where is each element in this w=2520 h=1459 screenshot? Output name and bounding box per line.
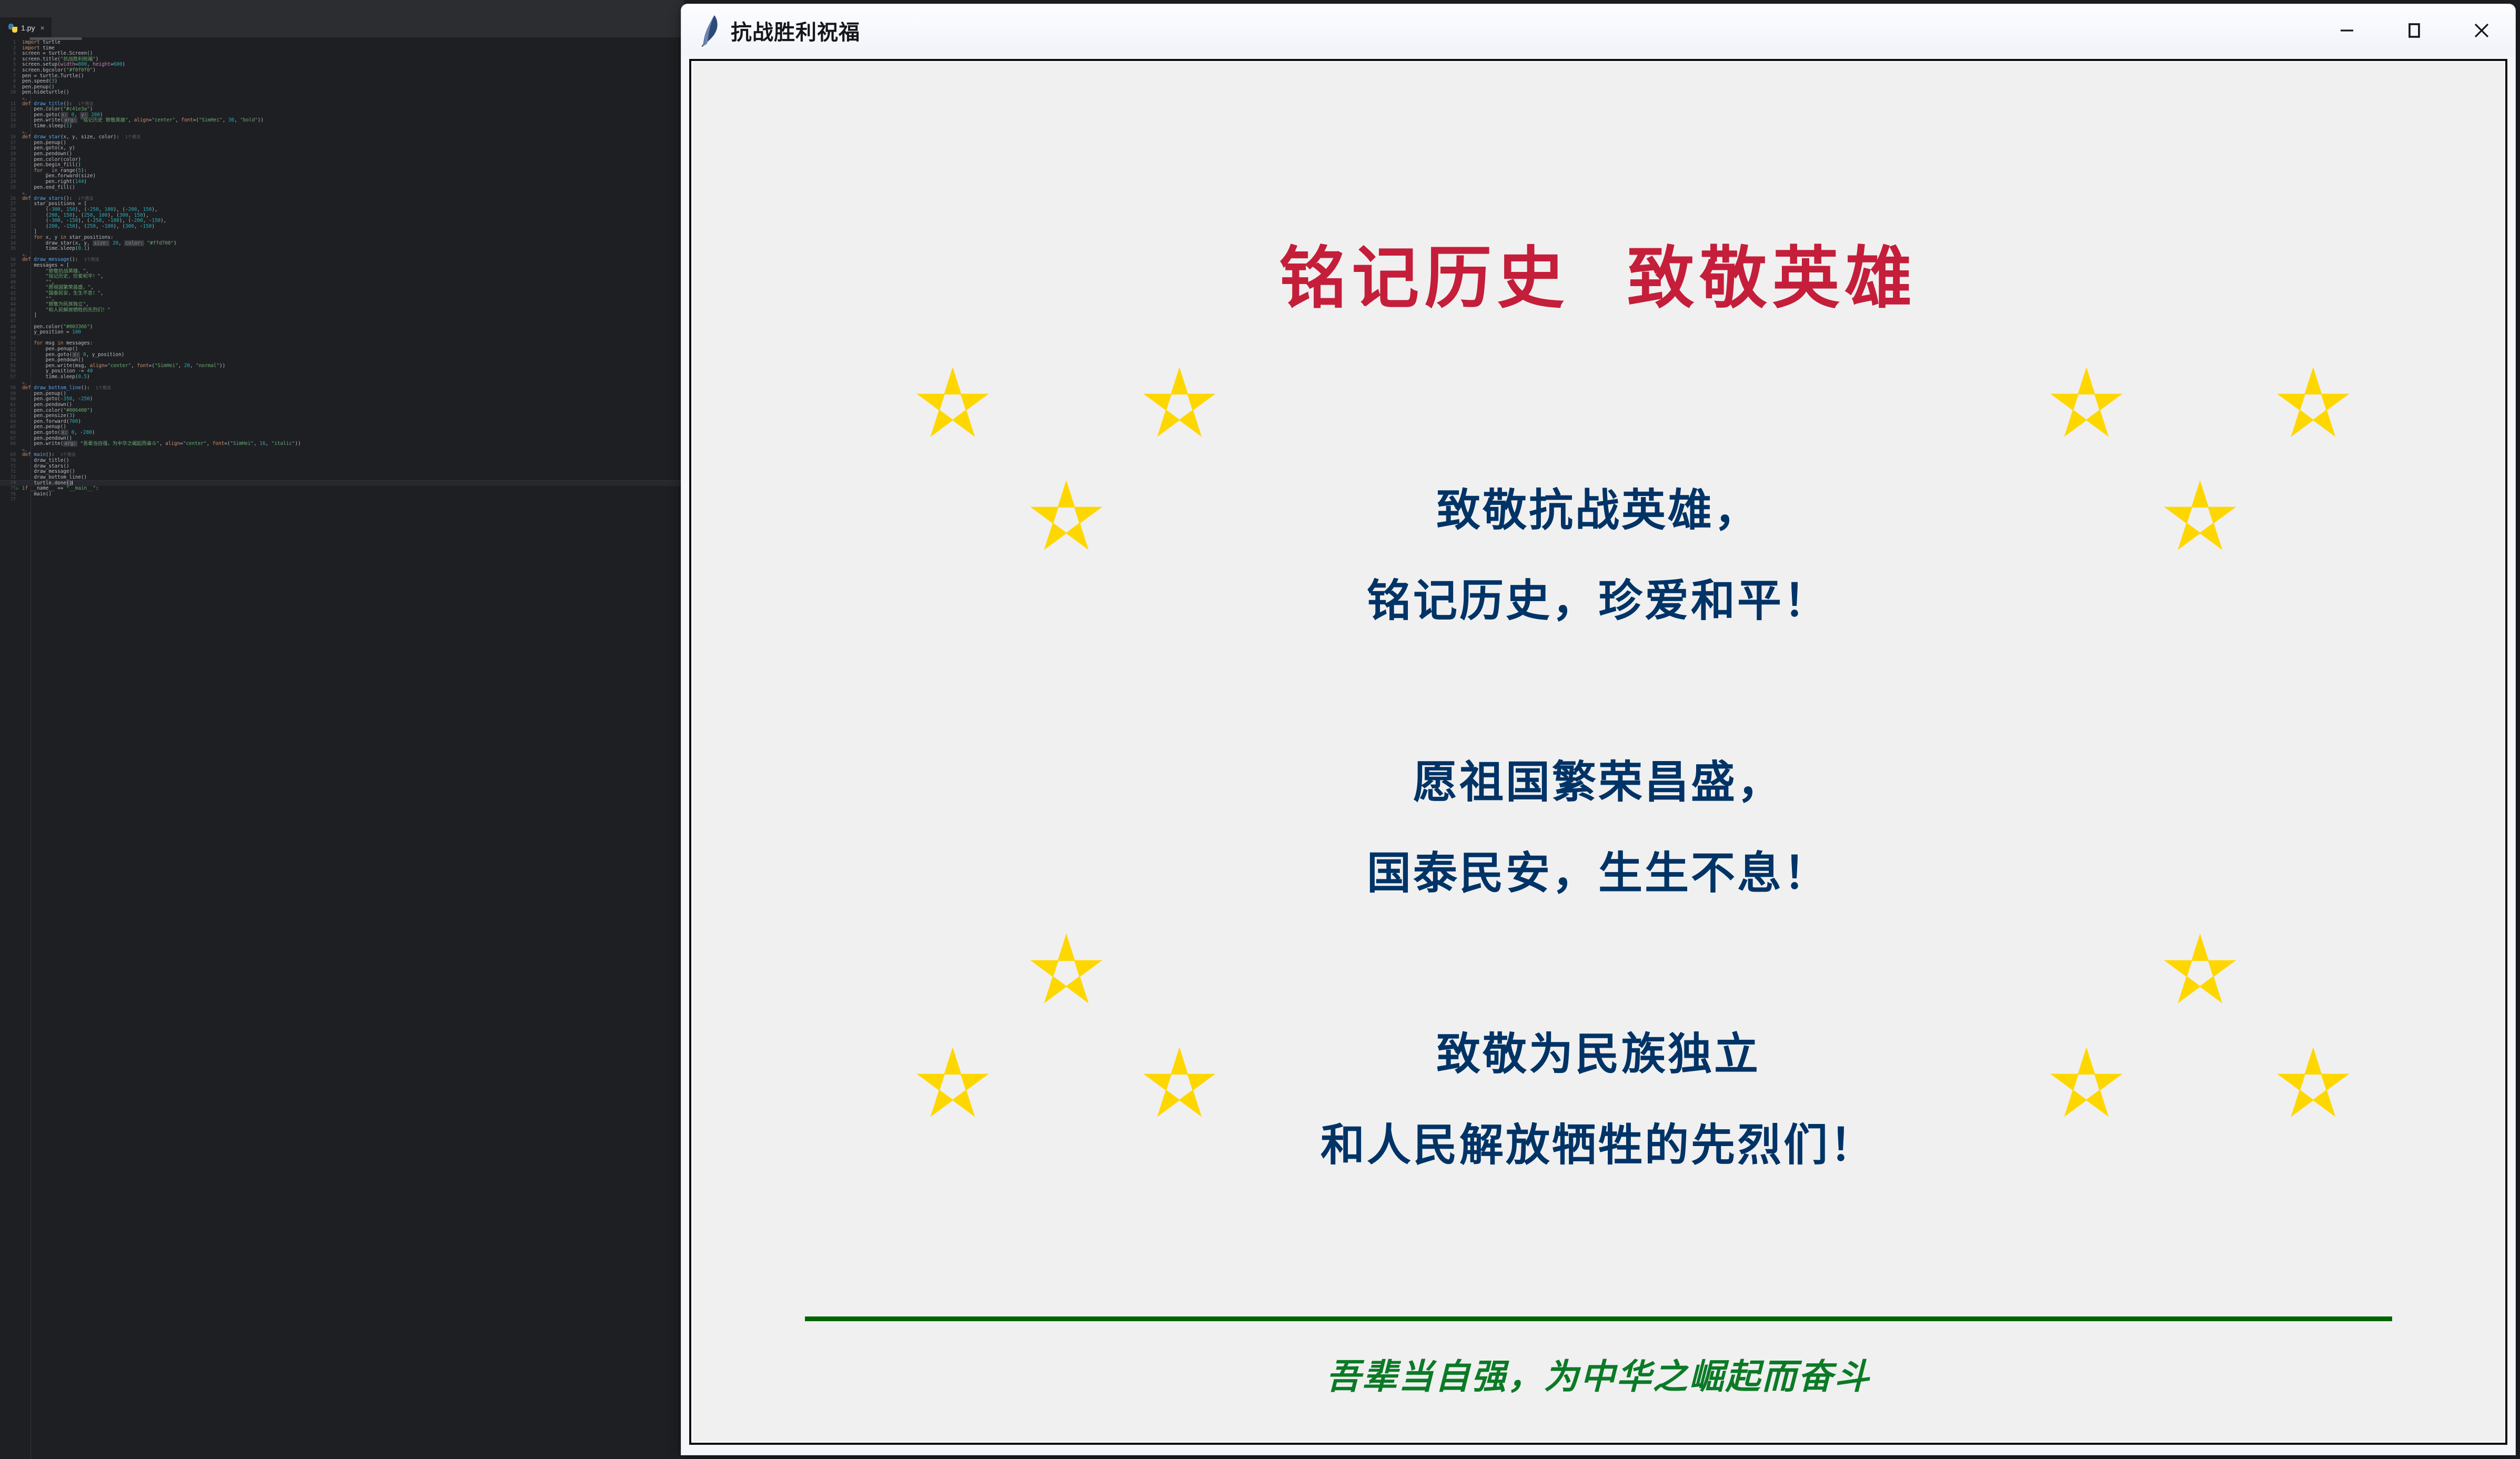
code-line-text: main() bbox=[22, 492, 52, 498]
code-line[interactable]: 14 pen.write(arg: "铭记历史 致敬英雄", align="ce… bbox=[0, 118, 684, 124]
code-line-text: draw_title() bbox=[22, 458, 69, 464]
code-line[interactable]: 57 time.sleep(0.5) bbox=[0, 374, 684, 380]
line-number: 66 bbox=[0, 430, 16, 436]
code-line[interactable]: 15 time.sleep(1) bbox=[0, 124, 684, 129]
code-line[interactable]: 66 pen.goto(x: 0, -280) bbox=[0, 430, 684, 436]
canvas-message-line: 致敬为民族独立 bbox=[691, 1019, 2505, 1082]
code-line[interactable]: 24 pen.right(144) bbox=[0, 179, 684, 185]
line-number: 67 bbox=[0, 436, 16, 442]
line-number: 12 bbox=[0, 107, 16, 113]
line-number: 28 bbox=[0, 207, 16, 213]
line-number: 52 bbox=[0, 347, 16, 352]
code-editor[interactable]: 1import turtle2import time3screen = turt… bbox=[0, 40, 684, 1459]
code-line[interactable]: 68 pen.write(arg: "吾辈当自强，为中华之崛起而奋斗", ali… bbox=[0, 441, 684, 447]
code-line[interactable]: 71 draw_stars() bbox=[0, 464, 684, 470]
line-number: 39 bbox=[0, 274, 16, 280]
line-number: 76 bbox=[0, 492, 16, 498]
window-title-text: 抗战胜利祝福 bbox=[731, 15, 860, 46]
line-number: 58 bbox=[0, 386, 16, 391]
ide-top-strip bbox=[0, 0, 684, 17]
line-number: 18 bbox=[0, 146, 16, 151]
code-line[interactable]: 56 y_position -= 40 bbox=[0, 369, 684, 374]
line-number: 41 bbox=[0, 285, 16, 291]
code-line-text: draw_bottom_line() bbox=[22, 475, 87, 481]
canvas-title-text: 铭记历史 致敬英雄 bbox=[691, 224, 2505, 321]
canvas-message-line: 愿祖国繁荣昌盛， bbox=[691, 747, 2505, 810]
editor-tab-label: 1.py bbox=[21, 24, 35, 32]
code-line[interactable]: 40 "", bbox=[0, 280, 684, 286]
code-line[interactable]: 39 "铭记历史，珍爱和平！", bbox=[0, 274, 684, 280]
code-line[interactable]: 70 draw_title() bbox=[0, 458, 684, 464]
close-icon[interactable]: × bbox=[38, 24, 46, 32]
editor-tab-bar: 1.py × bbox=[0, 17, 684, 37]
line-number: 23 bbox=[0, 174, 16, 179]
code-line[interactable]: 55 pen.write(msg, align="center", font=(… bbox=[0, 363, 684, 369]
line-number: 59 bbox=[0, 391, 16, 397]
line-number: 21 bbox=[0, 163, 16, 168]
line-number: 20 bbox=[0, 157, 16, 163]
line-number: 65 bbox=[0, 424, 16, 430]
code-line[interactable]: 20 pen.color(color) bbox=[0, 157, 684, 163]
code-line[interactable]: 3screen = turtle.Screen() bbox=[0, 51, 684, 57]
line-number: 63 bbox=[0, 413, 16, 419]
code-line[interactable]: 49 y_position = 100 bbox=[0, 330, 684, 336]
line-number: 26 bbox=[0, 196, 16, 202]
line-number: 25 bbox=[0, 185, 16, 191]
code-line[interactable]: 11def draw_title(): 1个用法 bbox=[0, 102, 684, 107]
code-line[interactable]: 62 pen.color("#006400") bbox=[0, 408, 684, 414]
line-number: 45 bbox=[0, 308, 16, 313]
line-number: 3 bbox=[0, 51, 16, 57]
line-number: 7 bbox=[0, 74, 16, 79]
code-line[interactable]: 46 ] bbox=[0, 313, 684, 319]
code-line[interactable]: 36def draw_message(): 1个用法 bbox=[0, 257, 684, 263]
star-icon bbox=[1030, 933, 1103, 1006]
code-line-text: (200, -150), (250, -100), (300, -150) bbox=[22, 224, 155, 230]
line-number: 42 bbox=[0, 291, 16, 297]
line-number: 69 bbox=[0, 452, 16, 458]
line-number: 49 bbox=[0, 330, 16, 336]
code-line[interactable]: 34 draw_star(x, y, size: 20, color: "#ff… bbox=[0, 241, 684, 247]
line-number: 27 bbox=[0, 201, 16, 207]
code-line[interactable]: 7pen = turtle.Turtle() bbox=[0, 74, 684, 79]
code-line-text: time.sleep(1) bbox=[22, 124, 72, 129]
code-line[interactable]: 43 "", bbox=[0, 297, 684, 302]
code-line-text: pen.hideturtle() bbox=[22, 90, 69, 96]
code-line[interactable]: 16def draw_star(x, y, size, color): 1个用法 bbox=[0, 135, 684, 140]
star-icon bbox=[2276, 366, 2350, 440]
star-icon bbox=[2050, 366, 2123, 440]
line-number: 74 bbox=[0, 480, 16, 486]
line-number: 4 bbox=[0, 57, 16, 63]
code-line-text: time.sleep(0.5) bbox=[22, 374, 90, 380]
code-line[interactable]: 6screen.bgcolor("#f0f0f0") bbox=[0, 68, 684, 74]
line-number: 6 bbox=[0, 68, 16, 74]
line-number: 37 bbox=[0, 263, 16, 269]
line-number: 40 bbox=[0, 280, 16, 286]
code-line[interactable]: 42 "国泰民安，生生不息！", bbox=[0, 291, 684, 297]
code-line-text: ] bbox=[22, 313, 37, 319]
window-controls bbox=[2313, 4, 2515, 57]
canvas-message-line: 国泰民安，生生不息！ bbox=[691, 838, 2505, 901]
line-number: 14 bbox=[0, 118, 16, 124]
window-title-bar[interactable]: 抗战胜利祝福 bbox=[681, 4, 2515, 57]
line-number: 11 bbox=[0, 102, 16, 107]
run-gutter-icon[interactable]: ▷ bbox=[16, 486, 19, 492]
python-file-icon bbox=[8, 24, 17, 33]
close-button[interactable] bbox=[2448, 4, 2515, 57]
line-number: 68 bbox=[0, 441, 16, 447]
code-line-text: pen.penup() bbox=[22, 347, 78, 352]
line-number: 48 bbox=[0, 325, 16, 330]
code-line-text: for x, y in star_positions: bbox=[22, 235, 114, 241]
line-number: 56 bbox=[0, 369, 16, 374]
code-line[interactable]: 17 pen.penup() bbox=[0, 140, 684, 146]
maximize-button[interactable] bbox=[2381, 4, 2448, 57]
code-line[interactable]: 63 pen.pensize(3) bbox=[0, 413, 684, 419]
canvas-bottom-line bbox=[805, 1316, 2392, 1321]
code-line[interactable]: 47 bbox=[0, 319, 684, 325]
code-line[interactable]: 45 "和人民解放牺牲的先烈们！" bbox=[0, 308, 684, 313]
code-line-text: pen.goto(x: 0, -280) bbox=[22, 430, 95, 436]
code-line[interactable]: 35 time.sleep(0.1) bbox=[0, 246, 684, 252]
code-line[interactable]: 52 pen.penup() bbox=[0, 347, 684, 352]
line-number: 19 bbox=[0, 151, 16, 157]
line-number: 8 bbox=[0, 79, 16, 85]
code-line[interactable]: 8pen.speed(3) bbox=[0, 79, 684, 85]
line-number: 57 bbox=[0, 374, 16, 380]
code-line[interactable]: 76 main() bbox=[0, 492, 684, 498]
canvas-message-line: 铭记历史，珍爱和平！ bbox=[691, 565, 2505, 629]
line-number: 1 bbox=[0, 40, 16, 46]
code-line[interactable]: 31 (200, -150), (250, -100), (300, -150) bbox=[0, 224, 684, 230]
code-line[interactable]: 21 pen.begin_fill() bbox=[0, 163, 684, 168]
star-icon bbox=[1143, 366, 1216, 440]
line-number: 15 bbox=[0, 124, 16, 129]
tk-feather-icon bbox=[697, 14, 721, 47]
line-number: 53 bbox=[0, 352, 16, 358]
code-line-text: screen.bgcolor("#f0f0f0") bbox=[22, 68, 96, 74]
line-number: 24 bbox=[0, 179, 16, 185]
code-line[interactable]: 5screen.setup(width=800, height=600) bbox=[0, 62, 684, 68]
line-number: 72 bbox=[0, 469, 16, 475]
line-number: 64 bbox=[0, 419, 16, 425]
code-line[interactable]: 19 pen.pendown() bbox=[0, 151, 684, 157]
line-number: 51 bbox=[0, 341, 16, 347]
pycharm-ide-window: 1.py × 1import turtle2import time3screen… bbox=[0, 0, 684, 1459]
code-line-text: pen.end_fill() bbox=[22, 185, 75, 191]
line-number: 36 bbox=[0, 257, 16, 263]
code-text[interactable]: 1import turtle2import time3screen = turt… bbox=[0, 40, 684, 503]
line-number: 61 bbox=[0, 402, 16, 408]
code-line[interactable]: 59 pen.penup() bbox=[0, 391, 684, 397]
minimize-button[interactable] bbox=[2313, 4, 2381, 57]
turtle-canvas[interactable]: 铭记历史 致敬英雄致敬抗战英雄，铭记历史，珍爱和平！愿祖国繁荣昌盛，国泰民安，生… bbox=[691, 61, 2505, 1443]
code-line[interactable]: 51 for msg in messages: bbox=[0, 341, 684, 347]
code-line[interactable]: 58def draw_bottom_line(): 1个用法 bbox=[0, 386, 684, 391]
line-number: 55 bbox=[0, 363, 16, 369]
code-line[interactable]: 72 draw_message() bbox=[0, 469, 684, 475]
code-line[interactable]: 53 pen.goto(x: 0, y_position) bbox=[0, 352, 684, 358]
code-line-text: y_position = 100 bbox=[22, 330, 81, 336]
canvas-message-line: 和人民解放牺牲的先烈们！ bbox=[691, 1110, 2505, 1173]
code-line[interactable]: 25 pen.end_fill() bbox=[0, 185, 684, 191]
code-line[interactable]: 33 for x, y in star_positions: bbox=[0, 235, 684, 241]
code-line-text: pen.write(arg: "吾辈当自强，为中华之崛起而奋斗", align=… bbox=[22, 441, 301, 447]
turtle-graphics-window: 抗战胜利祝福 铭记历史 致敬英雄致敬抗战英雄，铭记历史，珍爱和平！愿祖国繁荣昌盛… bbox=[681, 4, 2515, 1455]
line-number: 31 bbox=[0, 224, 16, 230]
line-number: 16 bbox=[0, 135, 16, 140]
canvas-message-line: 致敬抗战英雄， bbox=[691, 475, 2505, 539]
editor-tab-1py[interactable]: 1.py × bbox=[0, 17, 52, 37]
line-number: 43 bbox=[0, 297, 16, 302]
line-number: 38 bbox=[0, 269, 16, 275]
line-number: 34 bbox=[0, 241, 16, 247]
line-number: 62 bbox=[0, 408, 16, 414]
code-line[interactable]: 75▷if __name__ == "__main__": bbox=[0, 486, 684, 492]
line-number: 17 bbox=[0, 140, 16, 146]
canvas-footer-text: 吾辈当自强，为中华之崛起而奋斗 bbox=[691, 1349, 2505, 1399]
line-number: 47 bbox=[0, 319, 16, 325]
line-number: 75 bbox=[0, 486, 16, 492]
line-number: 60 bbox=[0, 397, 16, 402]
code-line[interactable]: 77 bbox=[0, 497, 684, 503]
line-number: 9 bbox=[0, 85, 16, 90]
line-number: 35 bbox=[0, 246, 16, 252]
line-number: 13 bbox=[0, 113, 16, 118]
code-line[interactable]: 61 pen.pendown() bbox=[0, 402, 684, 408]
line-number: 30 bbox=[0, 218, 16, 224]
code-line-text: time.sleep(0.1) bbox=[22, 246, 90, 252]
code-line[interactable]: 22 for _ in range(5): bbox=[0, 168, 684, 174]
line-number: 22 bbox=[0, 168, 16, 174]
line-number: 71 bbox=[0, 464, 16, 470]
line-number: 32 bbox=[0, 229, 16, 235]
code-line[interactable]: 73 draw_bottom_line() bbox=[0, 475, 684, 481]
line-number: 5 bbox=[0, 62, 16, 68]
line-number: 77 bbox=[0, 497, 16, 503]
code-line[interactable]: 10pen.hideturtle() bbox=[0, 90, 684, 96]
code-line[interactable]: 23 pen.forward(size) bbox=[0, 174, 684, 179]
code-line-text: pen.right(144) bbox=[22, 179, 87, 185]
line-number: 2 bbox=[0, 46, 16, 52]
code-line[interactable]: 74 turtle.done() bbox=[0, 480, 684, 486]
code-line[interactable]: 2import time bbox=[0, 46, 684, 52]
code-line[interactable]: 69def main(): 1个用法 bbox=[0, 452, 684, 458]
code-line[interactable]: 50 bbox=[0, 336, 684, 341]
code-line[interactable]: 65 pen.penup() bbox=[0, 424, 684, 430]
line-number: 44 bbox=[0, 302, 16, 308]
line-number: 50 bbox=[0, 336, 16, 341]
code-line[interactable]: 26def draw_stars(): 1个用法 bbox=[0, 196, 684, 202]
line-number: 46 bbox=[0, 313, 16, 319]
line-number: 29 bbox=[0, 213, 16, 219]
code-line[interactable]: 60 pen.goto(-350, -250) bbox=[0, 397, 684, 402]
line-number: 70 bbox=[0, 458, 16, 464]
code-line[interactable]: 18 pen.goto(x, y) bbox=[0, 146, 684, 151]
code-line-text: pen.pendown() bbox=[22, 151, 72, 157]
line-number: 73 bbox=[0, 475, 16, 481]
line-number: 54 bbox=[0, 358, 16, 363]
star-icon bbox=[2163, 933, 2237, 1006]
code-line-text: if __name__ == "__main__": bbox=[22, 486, 99, 492]
code-line[interactable]: 37 messages = [ bbox=[0, 263, 684, 269]
code-line-text: "国泰民安，生生不息！", bbox=[22, 291, 104, 297]
star-icon bbox=[916, 366, 990, 440]
line-number: 10 bbox=[0, 90, 16, 96]
code-line[interactable]: 64 pen.forward(700) bbox=[0, 419, 684, 425]
code-line[interactable]: 1import turtle bbox=[0, 40, 684, 46]
code-line[interactable]: 48 pen.color("#003366") bbox=[0, 325, 684, 330]
code-line[interactable]: 9pen.penup() bbox=[0, 85, 684, 90]
line-number: 33 bbox=[0, 235, 16, 241]
